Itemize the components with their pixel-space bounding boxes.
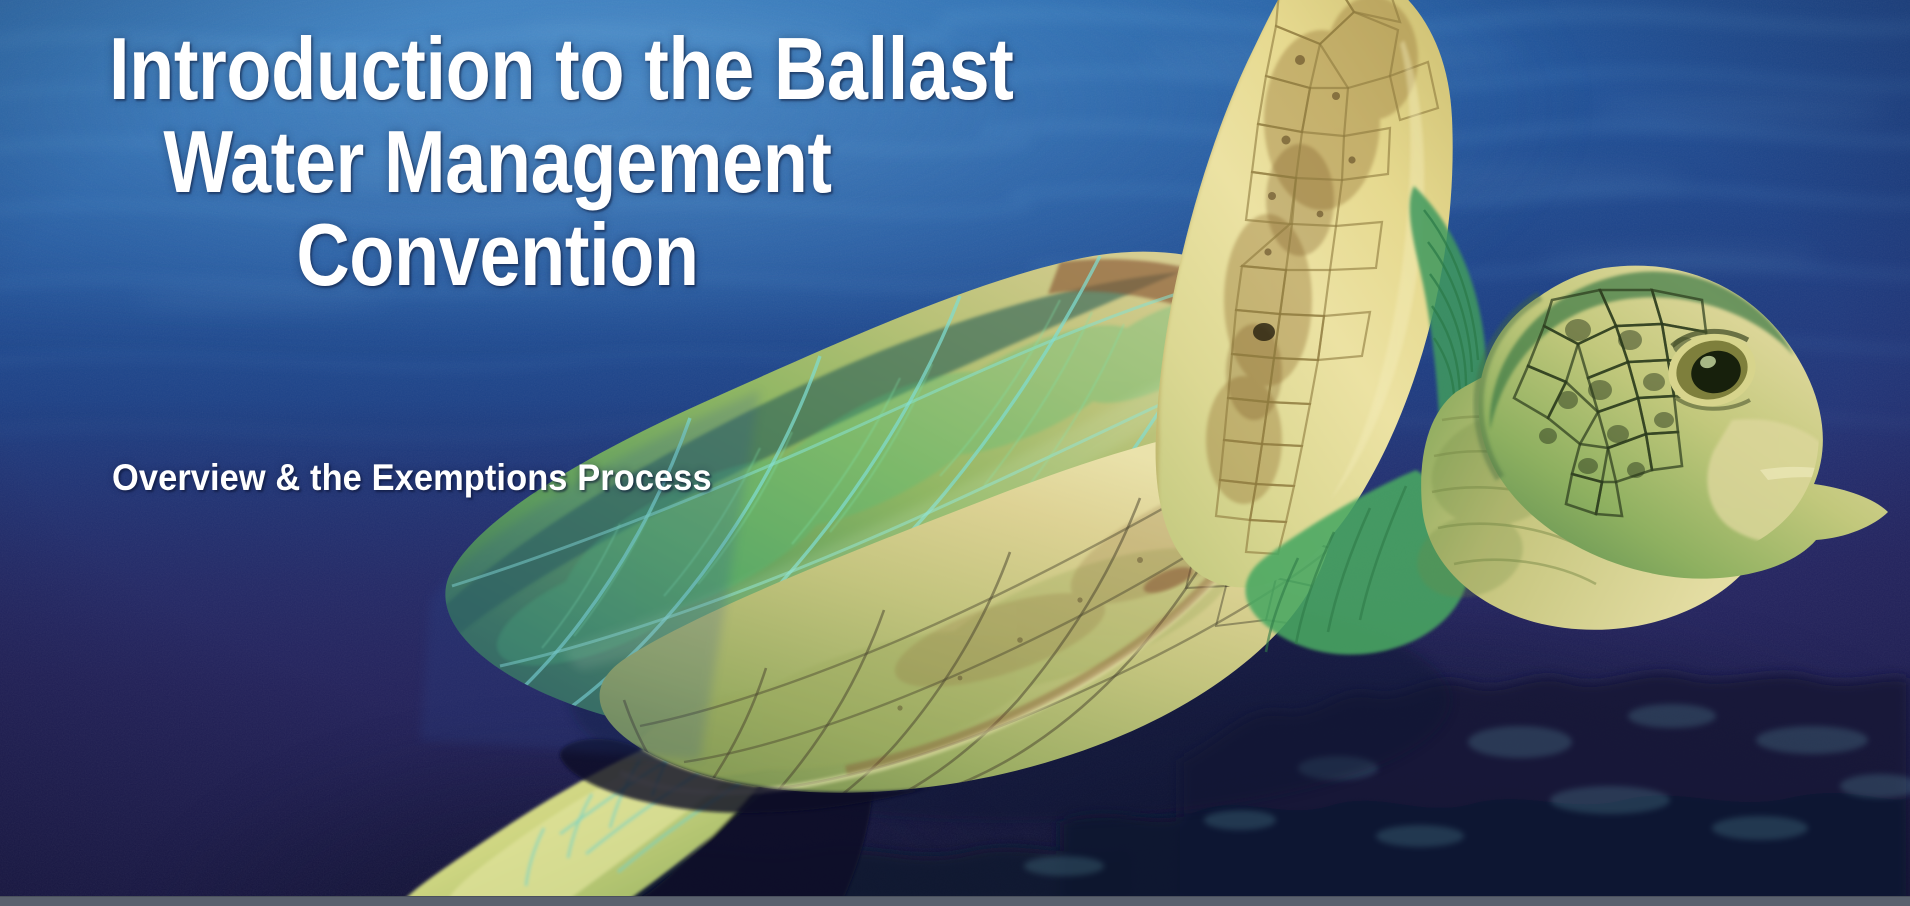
title-line-1: Introduction to the Ballast: [109, 22, 886, 115]
slide-subtitle: Overview & the Exemptions Process: [112, 457, 712, 499]
title-line-2: Water Management: [109, 115, 886, 208]
viewer-bottom-bar: [0, 896, 1910, 906]
presentation-slide: Introduction to the Ballast Water Manage…: [0, 0, 1910, 906]
title-line-3: Convention: [109, 208, 886, 301]
slide-title: Introduction to the Ballast Water Manage…: [35, 22, 960, 301]
